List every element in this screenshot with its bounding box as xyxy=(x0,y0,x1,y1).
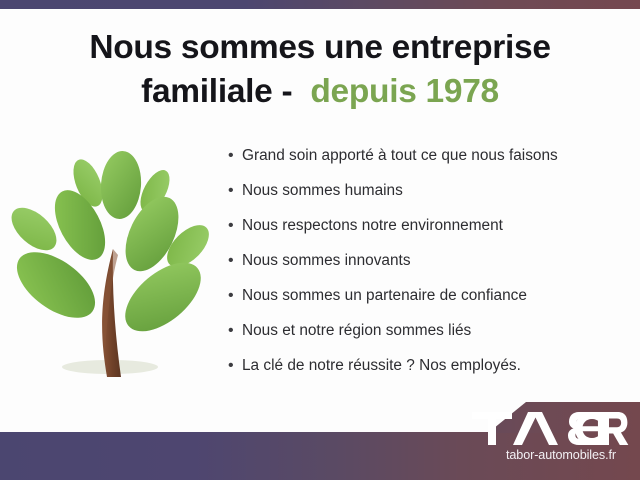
title-line-2: familiale - depuis 1978 xyxy=(0,70,640,113)
list-item: • La clé de notre réussite ? Nos employé… xyxy=(228,358,628,393)
bullet-dot-icon: • xyxy=(228,358,242,374)
title-accent-since-year: depuis 1978 xyxy=(310,73,499,110)
page-title: Nous sommes une entreprise familiale - d… xyxy=(0,26,640,113)
bullet-dot-icon: • xyxy=(228,218,242,234)
list-item: • Nous respectons notre environnement xyxy=(228,218,628,253)
bullet-dot-icon: • xyxy=(228,253,242,269)
bullet-dot-icon: • xyxy=(228,183,242,199)
bullet-dot-icon: • xyxy=(228,148,242,164)
list-item-label: Grand soin apporté à tout ce que nous fa… xyxy=(242,148,558,165)
top-accent-bar xyxy=(0,0,640,9)
list-item: • Nous et notre région sommes liés xyxy=(228,323,628,358)
brand-logo: tabor-automobiles.fr xyxy=(470,412,640,476)
slide-canvas: Nous sommes une entreprise familiale - d… xyxy=(0,0,640,480)
list-item-label: Nous respectons notre environnement xyxy=(242,218,503,235)
value-bullet-list: • Grand soin apporté à tout ce que nous … xyxy=(228,148,628,393)
tabor-wordmark-icon xyxy=(472,412,638,446)
list-item-label: Nous sommes un partenaire de confiance xyxy=(242,288,527,305)
bullet-dot-icon: • xyxy=(228,323,242,339)
list-item: • Grand soin apporté à tout ce que nous … xyxy=(228,148,628,183)
list-item-label: La clé de notre réussite ? Nos employés. xyxy=(242,358,521,375)
list-item-label: Nous sommes innovants xyxy=(242,253,411,270)
brand-website: tabor-automobiles.fr xyxy=(482,448,640,462)
list-item: • Nous sommes humains xyxy=(228,183,628,218)
tree-svg xyxy=(8,145,213,390)
list-item: • Nous sommes un partenaire de confiance xyxy=(228,288,628,323)
list-item: • Nous sommes innovants xyxy=(228,253,628,288)
title-line-1: Nous sommes une entreprise xyxy=(0,26,640,69)
list-item-label: Nous et notre région sommes liés xyxy=(242,323,471,340)
title-line-2-main: familiale - xyxy=(141,73,292,110)
list-item-label: Nous sommes humains xyxy=(242,183,403,200)
bullet-dot-icon: • xyxy=(228,288,242,304)
family-tree-illustration xyxy=(8,145,213,390)
